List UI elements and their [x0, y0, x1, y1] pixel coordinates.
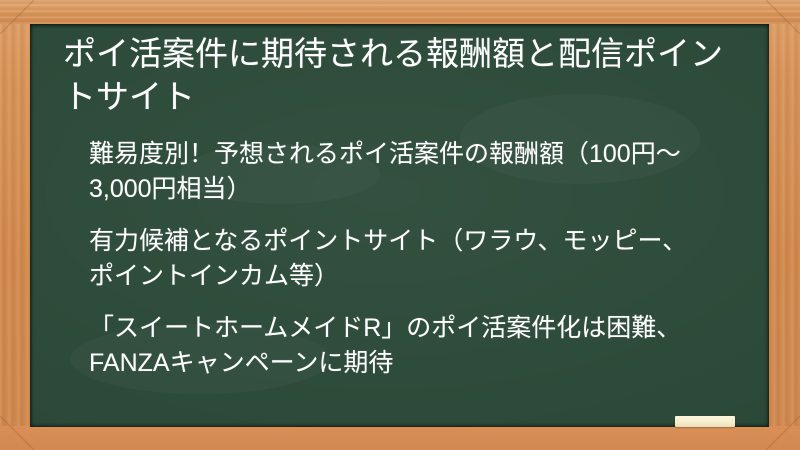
blackboard-frame: ポイ活案件に期待される報酬額と配信ポイントサイト 難易度別！予想されるポイ活案件…	[0, 0, 800, 450]
chalk-stick-icon	[675, 416, 735, 427]
summary-bullet-list: 難易度別！予想されるポイ活案件の報酬額（100円〜3,000円相当） 有力候補と…	[63, 137, 745, 382]
list-item: 「スイートホームメイドR」のポイ活案件化は困難、FANZAキャンペーンに期待	[89, 311, 709, 382]
list-item: 難易度別！予想されるポイ活案件の報酬額（100円〜3,000円相当）	[89, 137, 709, 208]
chalkboard-surface: ポイ活案件に期待される報酬額と配信ポイントサイト 難易度別！予想されるポイ活案件…	[30, 24, 769, 427]
frame-rail-top	[0, 0, 800, 24]
list-item: 有力候補となるポイントサイト（ワラウ、モッピー、ポイントインカム等）	[89, 224, 709, 295]
frame-rail-bottom	[0, 426, 800, 450]
page-title: ポイ活案件に期待される報酬額と配信ポイントサイト	[63, 33, 745, 119]
